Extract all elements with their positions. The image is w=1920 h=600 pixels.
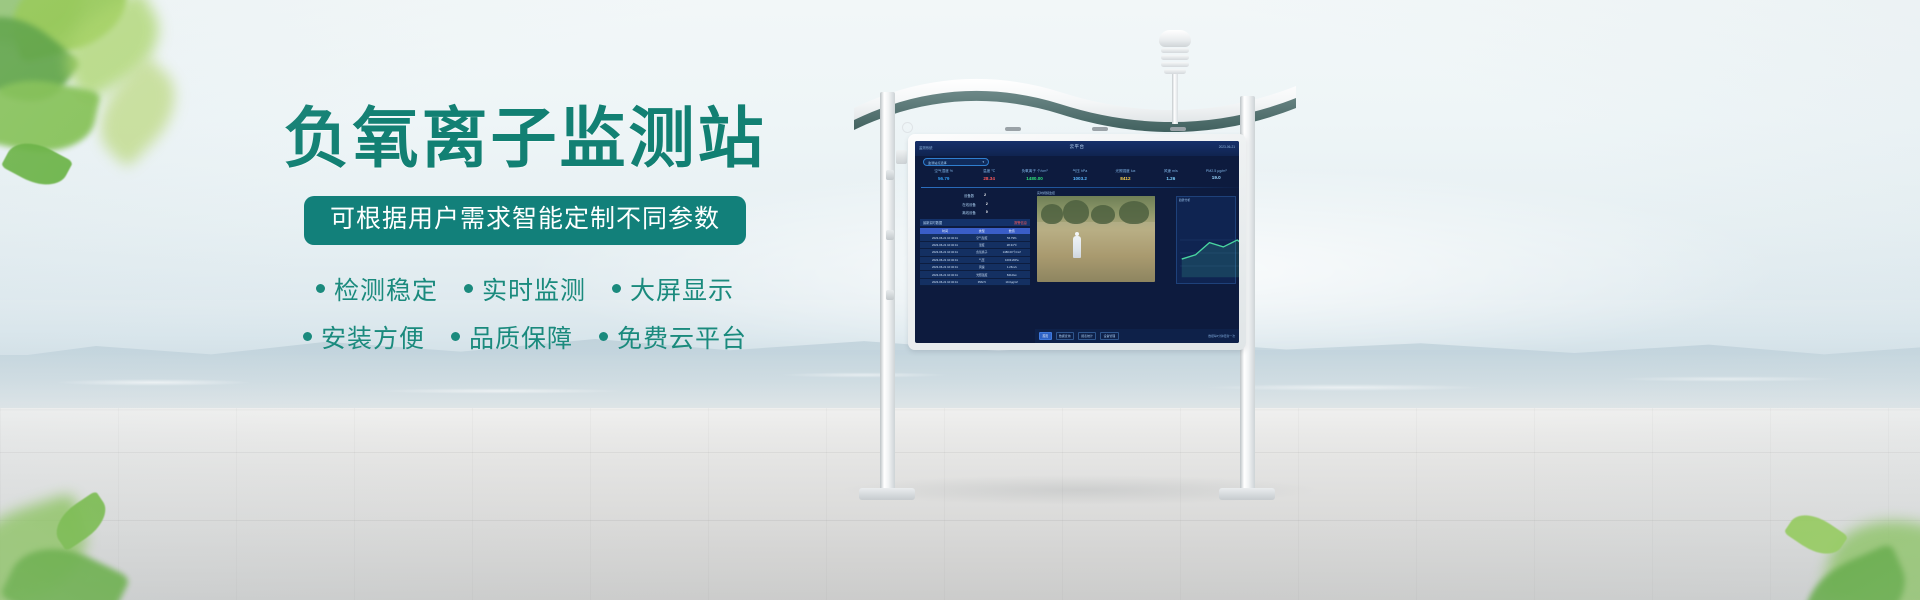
stat-value: 0: [986, 210, 988, 215]
bullet-dot-icon: [303, 332, 312, 341]
display-bezel: 监测系统 云平台 2023-06-21 监测站点选择 ▾ 空气湿度 % 56.7…: [908, 134, 1246, 350]
dashboard-header: 监测系统 云平台 2023-06-21: [915, 141, 1239, 156]
trend-chart-sparkline: [1180, 227, 1239, 279]
column-header-type: 类型: [970, 228, 994, 235]
kpi-label: 风速 m/s: [1148, 169, 1193, 174]
post-base-right: [1219, 488, 1275, 500]
camera-person-head: [1075, 232, 1079, 236]
monitoring-station-kiosk: 监测系统 云平台 2023-06-21 监测站点选择 ▾ 空气湿度 % 56.7…: [840, 30, 1310, 500]
stat-online-count: 在线设备 2: [920, 202, 1030, 207]
table-row[interactable]: 2023-06-21 10:32:41 光照强度 8412lux: [920, 271, 1030, 278]
alarm-badge[interactable]: 报警信息: [1014, 220, 1027, 225]
post-base-left: [859, 488, 915, 500]
cell-value: 1480.00个/cm³: [994, 249, 1030, 256]
footer-chip-device-management[interactable]: 设备管理: [1100, 332, 1118, 340]
table-header-row: 时间 类型 数值: [920, 228, 1030, 235]
dashboard-datetime: 2023-06-21: [1219, 145, 1235, 149]
stat-offline-count: 离线设备 0: [920, 210, 1030, 215]
stat-value: 2: [984, 193, 986, 198]
kpi-windspeed: 风速 m/s 1.26: [1148, 169, 1193, 181]
kpi-value: 1480.00: [1012, 176, 1057, 181]
table-row[interactable]: 2023-06-21 10:32:41 风速 1.26m/s: [920, 263, 1030, 270]
subtitle-badge: 可根据用户需求智能定制不同参数: [304, 196, 746, 245]
cell-type: 光照强度: [970, 271, 994, 278]
kpi-value: 8412: [1103, 176, 1148, 181]
sensor-shield-ring: [1161, 55, 1189, 60]
bullet-dot-icon: [612, 284, 621, 293]
frame-mount-nub: [1092, 127, 1108, 131]
stat-label: 在线设备: [962, 202, 976, 207]
feature-label: 检测稳定: [334, 271, 438, 307]
kpi-illuminance: 光照强度 lux 8412: [1103, 169, 1148, 181]
table-row[interactable]: 2023-06-21 10:32:41 空气湿度 56.79%: [920, 234, 1030, 241]
dashboard-left-panel: 设备数 2 在线设备 2 离线设备 0 最新实时数据: [915, 190, 1035, 343]
dashboard-body: 设备数 2 在线设备 2 离线设备 0 最新实时数据: [915, 190, 1239, 343]
stat-value: 2: [986, 202, 988, 207]
kpi-label: PM2.5 μg/m³: [1194, 169, 1239, 173]
kpi-temperature: 温度 ℃ 28.34: [966, 169, 1011, 181]
cell-type: 负氧离子: [970, 249, 994, 256]
chevron-down-icon: ▾: [982, 160, 984, 164]
table-row[interactable]: 2023-06-21 10:32:41 负氧离子 1480.00个/cm³: [920, 249, 1030, 256]
feature-item-free-cloud-platform: 免费云平台: [599, 319, 747, 355]
cell-time: 2023-06-21 10:32:41: [920, 263, 970, 270]
cell-value: 8412lux: [994, 271, 1030, 278]
live-camera-feed[interactable]: [1037, 196, 1155, 282]
bullet-dot-icon: [599, 332, 608, 341]
weather-sensor-mast: [1151, 30, 1199, 122]
sensor-shield-ring: [1161, 48, 1189, 53]
trend-chart-title: 趋势分析: [1177, 197, 1235, 203]
kpi-value: 56.79: [921, 176, 966, 181]
kpi-divider: [921, 187, 1239, 188]
kpi-label: 气压 hPa: [1057, 169, 1102, 174]
kpi-pm25: PM2.5 μg/m³ 19.0: [1194, 169, 1239, 181]
plaza-seam: [0, 520, 1920, 521]
kpi-value: 1.26: [1148, 176, 1193, 181]
feature-label: 大屏显示: [630, 271, 734, 307]
feature-item-quality-guarantee: 品质保障: [451, 319, 573, 355]
bullet-dot-icon: [451, 332, 460, 341]
frame-hinge: [886, 290, 894, 300]
canopy-roof: [850, 78, 1300, 140]
cell-time: 2023-06-21 10:32:41: [920, 278, 970, 285]
camera-tree: [1063, 200, 1089, 224]
feature-row: 安装方便 品质保障 免费云平台: [255, 319, 795, 355]
cell-value: 28.34℃: [994, 241, 1030, 248]
footer-chip-data-query[interactable]: 数据查询: [1056, 332, 1074, 340]
feature-item-detection-stable: 检测稳定: [316, 271, 438, 307]
cell-time: 2023-06-21 10:32:41: [920, 249, 970, 256]
column-header-time: 时间: [920, 228, 970, 235]
table-row[interactable]: 2023-06-21 10:32:41 温度 28.34℃: [920, 241, 1030, 248]
feature-row: 检测稳定 实时监测 大屏显示: [255, 271, 795, 307]
dashboard-right-panel: 实时视频监控 趋势分析: [1035, 190, 1239, 343]
feature-list: 检测稳定 实时监测 大屏显示 安装方便 品质保障: [255, 271, 795, 355]
cell-time: 2023-06-21 10:32:41: [920, 256, 970, 263]
feature-item-realtime-monitoring: 实时监测: [464, 271, 586, 307]
realtime-table-header: 最新实时数据 报警信息: [920, 219, 1030, 226]
cell-type: 温度: [970, 241, 994, 248]
dashboard-logo: 监测系统: [919, 145, 933, 150]
footer-note: 数据每5分钟更新一次: [1208, 334, 1235, 338]
dashboard-screen[interactable]: 监测系统 云平台 2023-06-21 监测站点选择 ▾ 空气湿度 % 56.7…: [915, 141, 1239, 343]
sensor-pole: [1172, 74, 1178, 124]
kpi-value: 28.34: [966, 176, 1011, 181]
cell-value: 19.0μg/m³: [994, 278, 1030, 285]
table-row[interactable]: 2023-06-21 10:32:41 PM2.5 19.0μg/m³: [920, 278, 1030, 285]
camera-tree: [1041, 204, 1063, 224]
footer-chip-home[interactable]: 首页: [1039, 332, 1052, 340]
camera-tree: [1091, 205, 1115, 224]
bullet-dot-icon: [316, 284, 325, 293]
stat-label: 设备数: [964, 193, 974, 198]
feature-item-large-screen: 大屏显示: [612, 271, 734, 307]
trend-chart-panel[interactable]: 趋势分析: [1176, 196, 1236, 284]
kpi-label: 空气湿度 %: [921, 169, 966, 174]
hero-banner: 负氧离子监测站 可根据用户需求智能定制不同参数 检测稳定 实时监测 大屏显示: [0, 0, 1920, 600]
cell-time: 2023-06-21 10:32:41: [920, 241, 970, 248]
station-select-value: 监测站点选择: [928, 160, 947, 165]
sensor-shield-ring: [1161, 62, 1189, 67]
kpi-label: 负氧离子 个/cm³: [1012, 169, 1057, 174]
rail-clip: [896, 150, 907, 164]
table-title-label: 最新实时数据: [923, 220, 942, 225]
feature-label: 品质保障: [469, 319, 573, 355]
kpi-label: 温度 ℃: [966, 169, 1011, 174]
feature-label: 安装方便: [321, 319, 425, 355]
kpi-negative-ion: 负氧离子 个/cm³ 1480.00: [1012, 169, 1057, 181]
stat-label: 离线设备: [962, 210, 976, 215]
cell-value: 1003.2hPa: [994, 256, 1030, 263]
camera-caption: 实时视频监控: [1037, 191, 1055, 195]
stat-device-count: 设备数 2: [920, 193, 1030, 198]
kpi-value: 1003.2: [1057, 176, 1102, 181]
cell-time: 2023-06-21 10:32:41: [920, 234, 970, 241]
realtime-data-table: 时间 类型 数值 2023-06-21 10:32:41 空气湿度 56.79%: [920, 228, 1030, 286]
cell-type: 空气湿度: [970, 234, 994, 241]
camera-lens-icon: [902, 122, 913, 133]
feature-item-easy-install: 安装方便: [303, 319, 425, 355]
feature-label: 实时监测: [482, 271, 586, 307]
cell-value: 1.26m/s: [994, 263, 1030, 270]
cell-time: 2023-06-21 10:32:41: [920, 271, 970, 278]
kpi-pressure: 气压 hPa 1003.2: [1057, 169, 1102, 181]
camera-tree: [1119, 201, 1149, 224]
bullet-dot-icon: [464, 284, 473, 293]
kpi-row: 空气湿度 % 56.79 温度 ℃ 28.34 负氧离子 个/cm³ 1480.…: [921, 169, 1239, 181]
cell-type: 风速: [970, 263, 994, 270]
table-row[interactable]: 2023-06-21 10:32:41 气压 1003.2hPa: [920, 256, 1030, 263]
column-header-value: 数值: [994, 228, 1030, 235]
station-select[interactable]: 监测站点选择 ▾: [923, 158, 989, 166]
kpi-label: 光照强度 lux: [1103, 169, 1148, 174]
dashboard-title: 云平台: [1070, 144, 1085, 150]
camera-person-body: [1073, 236, 1081, 258]
frame-hinge: [886, 230, 894, 240]
frame-mount-nub: [1005, 127, 1021, 131]
sensor-radiation-shield-icon: [1159, 30, 1191, 47]
cell-type: PM2.5: [970, 278, 994, 285]
dashboard-footer-nav: 首页 数据查询 报表统计 设备管理 数据每5分钟更新一次: [1035, 329, 1239, 343]
frame-mount-nub: [1170, 127, 1186, 131]
page-title: 负氧离子监测站: [255, 104, 795, 174]
kpi-humidity: 空气湿度 % 56.79: [921, 169, 966, 181]
hero-text-block: 负氧离子监测站 可根据用户需求智能定制不同参数 检测稳定 实时监测 大屏显示: [255, 104, 795, 367]
kpi-value: 19.0: [1194, 175, 1239, 180]
feature-label: 免费云平台: [617, 319, 747, 355]
frame-hinge: [886, 170, 894, 180]
footer-chip-reports[interactable]: 报表统计: [1078, 332, 1096, 340]
cell-type: 气压: [970, 256, 994, 263]
cell-value: 56.79%: [994, 234, 1030, 241]
